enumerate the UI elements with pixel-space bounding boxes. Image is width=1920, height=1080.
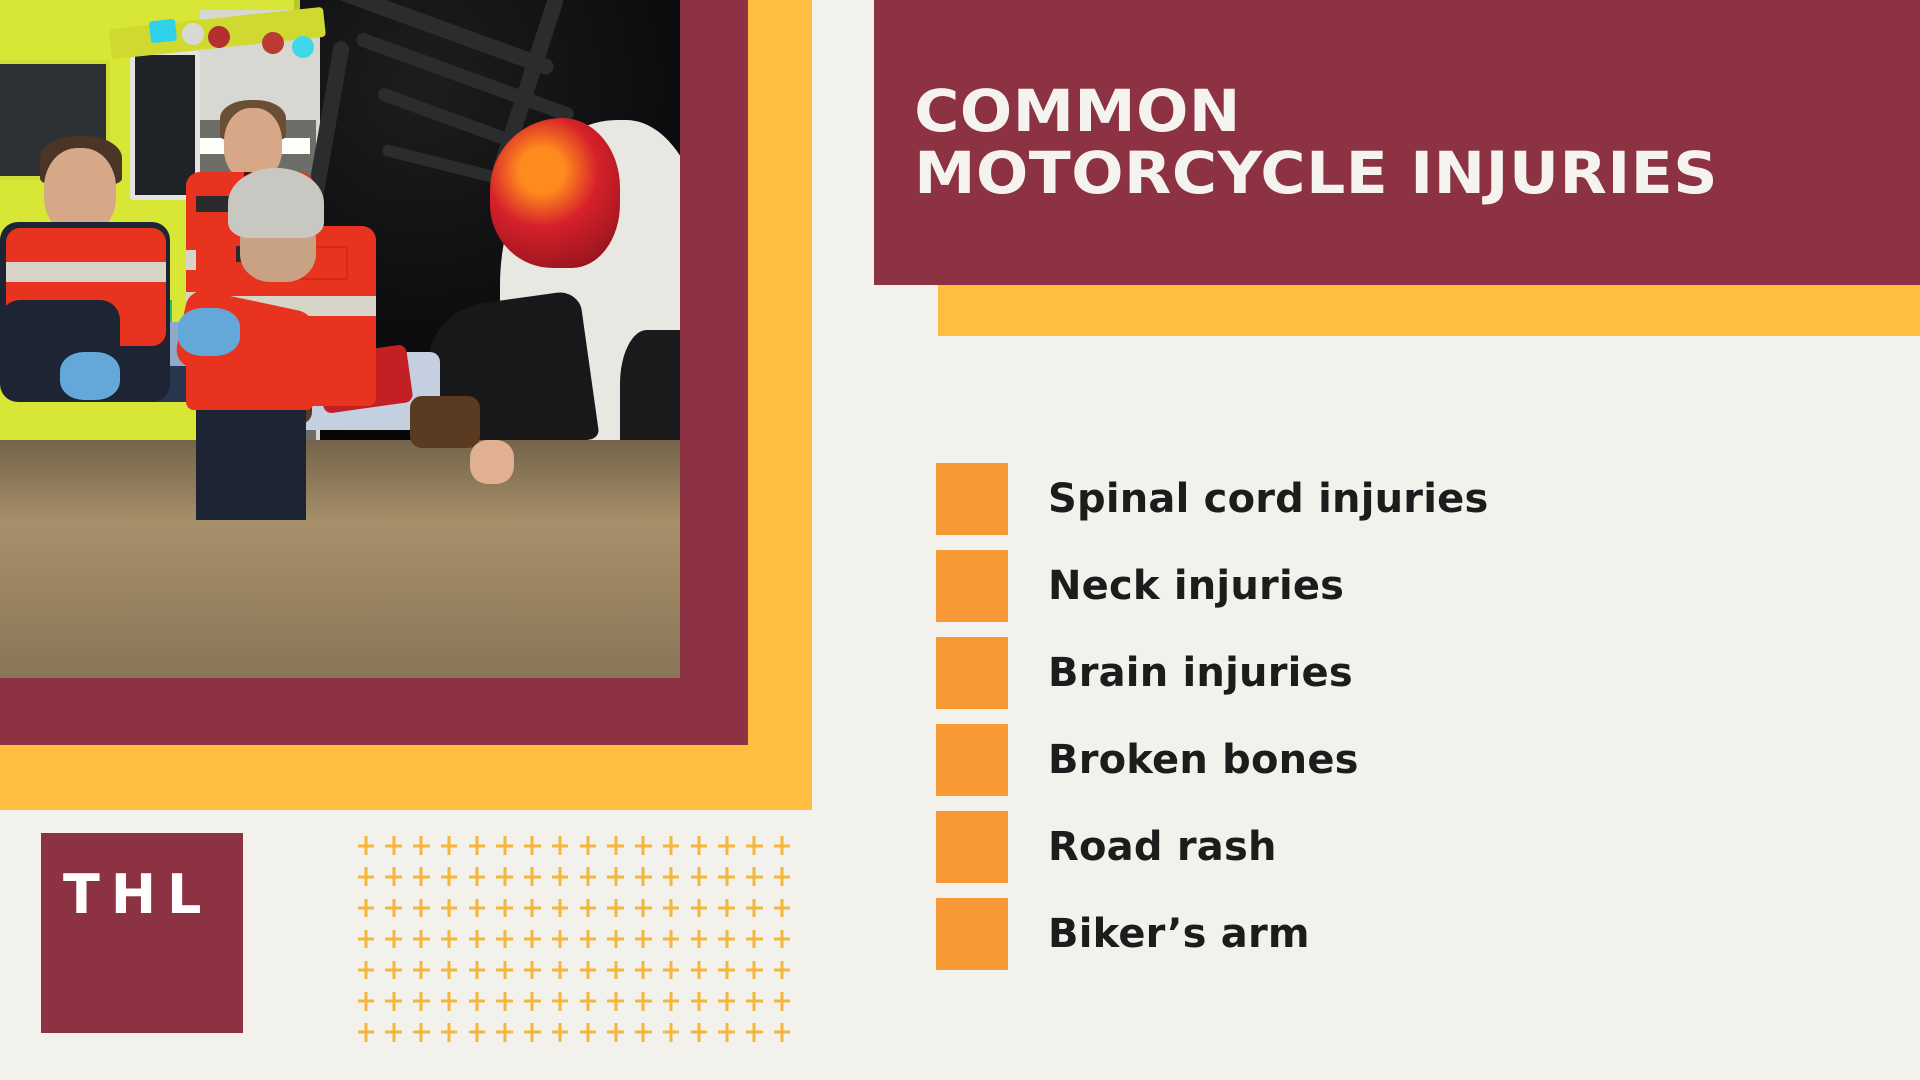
photo-patient-boot [410, 396, 480, 448]
plus-icon [630, 830, 658, 861]
plus-icon [713, 1017, 741, 1048]
plus-icon [574, 955, 602, 986]
left-image-composition [0, 0, 812, 810]
bullet-square-icon [936, 811, 1008, 883]
plus-icon [574, 986, 602, 1017]
list-item: Spinal cord injuries [936, 455, 1836, 542]
plus-icon [741, 986, 769, 1017]
plus-icon [546, 830, 574, 861]
plus-icon [352, 861, 380, 892]
list-item-label: Neck injuries [1048, 563, 1344, 609]
plus-icon [435, 861, 463, 892]
plus-icon [768, 955, 796, 986]
page-title-line-1: COMMON [914, 77, 1241, 145]
brand-logo-text: THL [41, 833, 243, 926]
plus-icon [741, 861, 769, 892]
plus-icon [380, 830, 408, 861]
title-banner: COMMON MOTORCYCLE INJURIES [874, 0, 1920, 285]
page-title-line-2: MOTORCYCLE INJURIES [914, 139, 1718, 207]
plus-icon [491, 986, 519, 1017]
list-item: Broken bones [936, 716, 1836, 803]
photo-bystander-foot [470, 440, 514, 484]
plus-icon [630, 892, 658, 923]
plus-icon [741, 923, 769, 954]
plus-icon [657, 986, 685, 1017]
list-item-label: Brain injuries [1048, 650, 1353, 696]
plus-icon [546, 861, 574, 892]
bullet-square-icon [936, 463, 1008, 535]
plus-grid-decoration [352, 830, 796, 1048]
plus-icon [657, 892, 685, 923]
plus-icon [519, 892, 547, 923]
plus-icon [685, 1017, 713, 1048]
plus-icon [574, 861, 602, 892]
plus-icon [685, 830, 713, 861]
plus-icon [602, 986, 630, 1017]
plus-icon [546, 986, 574, 1017]
plus-icon [602, 1017, 630, 1048]
plus-icon [463, 830, 491, 861]
plus-icon [630, 955, 658, 986]
plus-icon [574, 892, 602, 923]
plus-icon [435, 892, 463, 923]
plus-icon [685, 861, 713, 892]
plus-icon [435, 830, 463, 861]
plus-icon [463, 923, 491, 954]
plus-icon [519, 955, 547, 986]
plus-icon [685, 955, 713, 986]
plus-icon [519, 861, 547, 892]
plus-icon [380, 955, 408, 986]
photo-lightbar-lamp-blue [149, 19, 177, 44]
plus-icon [380, 892, 408, 923]
plus-icon [713, 892, 741, 923]
photo-medical-glove [178, 308, 240, 356]
plus-icon [630, 861, 658, 892]
plus-icon [352, 986, 380, 1017]
plus-icon [657, 861, 685, 892]
page-title: COMMON MOTORCYCLE INJURIES [874, 81, 1718, 204]
list-item-label: Biker’s arm [1048, 911, 1310, 957]
plus-icon [768, 986, 796, 1017]
plus-icon [741, 955, 769, 986]
plus-icon [741, 830, 769, 861]
plus-icon [408, 1017, 436, 1048]
plus-icon [741, 1017, 769, 1048]
list-item: Road rash [936, 803, 1836, 890]
plus-icon [380, 923, 408, 954]
list-item-label: Spinal cord injuries [1048, 476, 1488, 522]
plus-icon [463, 892, 491, 923]
plus-icon [519, 923, 547, 954]
plus-icon [408, 923, 436, 954]
list-item-label: Road rash [1048, 824, 1277, 870]
brand-logo: THL [41, 833, 243, 1033]
bullet-square-icon [936, 550, 1008, 622]
plus-icon [435, 955, 463, 986]
plus-icon [630, 923, 658, 954]
plus-icon [574, 830, 602, 861]
plus-icon [380, 986, 408, 1017]
list-item: Neck injuries [936, 542, 1836, 629]
plus-icon [630, 986, 658, 1017]
photo-motorcycle-taillight [490, 118, 620, 268]
bullet-square-icon [936, 898, 1008, 970]
plus-icon [685, 892, 713, 923]
plus-icon [546, 892, 574, 923]
bullet-square-icon [936, 637, 1008, 709]
plus-icon [768, 923, 796, 954]
accident-scene-photo [0, 0, 680, 678]
plus-icon [713, 861, 741, 892]
plus-icon [352, 892, 380, 923]
plus-icon [602, 861, 630, 892]
photo-medical-glove [60, 352, 120, 400]
plus-icon [352, 1017, 380, 1048]
plus-icon [408, 861, 436, 892]
plus-icon [408, 986, 436, 1017]
plus-icon [741, 892, 769, 923]
plus-icon [491, 830, 519, 861]
plus-icon [491, 1017, 519, 1048]
plus-icon [574, 1017, 602, 1048]
plus-icon [685, 986, 713, 1017]
plus-icon [713, 986, 741, 1017]
plus-icon [463, 1017, 491, 1048]
plus-icon [768, 861, 796, 892]
plus-icon [768, 1017, 796, 1048]
plus-icon [657, 923, 685, 954]
photo-hiviz-stripe [6, 262, 166, 282]
plus-icon [491, 955, 519, 986]
plus-icon [657, 830, 685, 861]
plus-icon [408, 955, 436, 986]
plus-icon [519, 986, 547, 1017]
injury-list: Spinal cord injuries Neck injuries Brain… [936, 455, 1836, 977]
plus-icon [546, 1017, 574, 1048]
plus-icon [435, 986, 463, 1017]
plus-icon [713, 830, 741, 861]
plus-icon [657, 955, 685, 986]
plus-icon [657, 1017, 685, 1048]
plus-icon [352, 923, 380, 954]
plus-icon [768, 892, 796, 923]
list-item: Brain injuries [936, 629, 1836, 716]
list-item-label: Broken bones [1048, 737, 1359, 783]
plus-icon [491, 861, 519, 892]
plus-icon [519, 830, 547, 861]
plus-icon [546, 955, 574, 986]
plus-icon [435, 923, 463, 954]
list-item: Biker’s arm [936, 890, 1836, 977]
plus-icon [408, 892, 436, 923]
plus-icon [685, 923, 713, 954]
plus-icon [602, 923, 630, 954]
plus-icon [713, 923, 741, 954]
plus-icon [491, 892, 519, 923]
plus-icon [352, 830, 380, 861]
plus-icon [435, 1017, 463, 1048]
plus-icon [408, 830, 436, 861]
plus-icon [713, 955, 741, 986]
plus-icon [546, 923, 574, 954]
title-accent-bar [938, 285, 1920, 336]
plus-icon [519, 1017, 547, 1048]
plus-icon [602, 955, 630, 986]
plus-icon [574, 923, 602, 954]
plus-icon [602, 892, 630, 923]
bullet-square-icon [936, 724, 1008, 796]
plus-icon [352, 955, 380, 986]
plus-icon [380, 1017, 408, 1048]
plus-icon [768, 830, 796, 861]
plus-icon [602, 830, 630, 861]
plus-icon [463, 955, 491, 986]
photo-ground-shading [0, 440, 680, 678]
plus-icon [491, 923, 519, 954]
plus-icon [380, 861, 408, 892]
photo-paramedic-standing-legs [196, 400, 306, 520]
photo-paramedic-senior-hair [228, 168, 324, 238]
plus-icon [463, 861, 491, 892]
plus-icon [630, 1017, 658, 1048]
plus-icon [463, 986, 491, 1017]
